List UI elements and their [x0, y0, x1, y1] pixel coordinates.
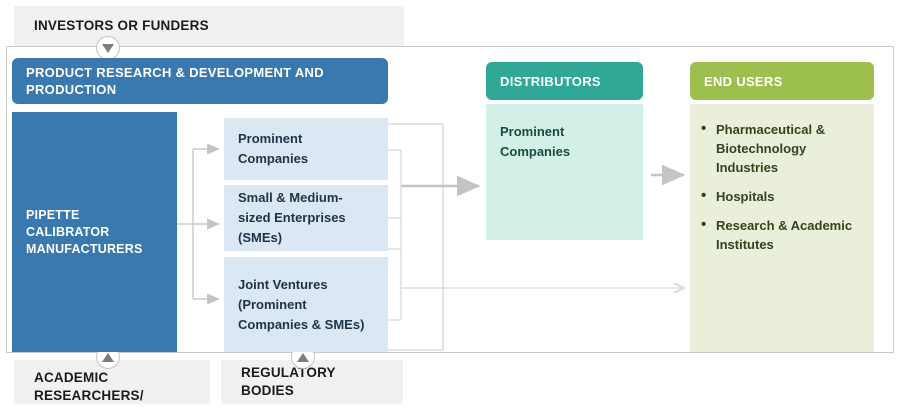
list-item: Hospitals [714, 187, 864, 206]
list-item: Pharmaceutical & Biotechnology Industrie… [714, 120, 864, 177]
list-item: Research & Academic Institutes [714, 216, 864, 254]
column-header-distributors: DISTRIBUTORS [486, 62, 643, 100]
end-users-list: Pharmaceutical & Biotechnology Industrie… [698, 120, 864, 254]
node-joint-ventures-label: Joint Ventures (Prominent Companies & SM… [238, 275, 374, 335]
stakeholder-academic-label-line1: ACADEMIC RESEARCHERS/ [34, 369, 196, 405]
node-end-users-body[interactable]: Pharmaceutical & Biotechnology Industrie… [690, 104, 874, 352]
node-distributors-entry: Prominent Companies [500, 124, 570, 159]
stakeholder-regulatory-label: REGULATORY BODIES [241, 364, 389, 400]
triangle-down-icon [96, 36, 120, 60]
node-pipette-calibrator-manufacturers[interactable]: PIPETTE CALIBRATOR MANUFACTURERS [12, 112, 177, 352]
stakeholder-regulatory-bodies[interactable]: REGULATORY BODIES [221, 360, 403, 404]
node-prominent-companies-label: Prominent Companies [238, 129, 374, 169]
node-joint-ventures[interactable]: Joint Ventures (Prominent Companies & SM… [224, 257, 388, 352]
stakeholder-investors[interactable]: INVESTORS OR FUNDERS [14, 6, 404, 46]
value-chain-diagram: INVESTORS OR FUNDERS ACADEMIC RESEARCHER… [0, 0, 900, 408]
column-header-end-users: END USERS [690, 62, 874, 100]
column-header-distributors-label: DISTRIBUTORS [500, 73, 601, 90]
column-header-end-users-label: END USERS [704, 73, 783, 90]
node-smes[interactable]: Small & Medium-sized Enterprises (SMEs) [224, 185, 388, 251]
column-header-production-label: PRODUCT RESEARCH & DEVELOPMENT AND PRODU… [26, 64, 376, 98]
node-distributors-body[interactable]: Prominent Companies [486, 104, 643, 240]
node-manufacturers-label: PIPETTE CALIBRATOR MANUFACTURERS [26, 207, 163, 258]
stakeholder-investors-label: INVESTORS OR FUNDERS [34, 17, 209, 35]
column-header-production: PRODUCT RESEARCH & DEVELOPMENT AND PRODU… [12, 58, 388, 104]
node-smes-label: Small & Medium-sized Enterprises (SMEs) [238, 188, 374, 248]
node-prominent-companies[interactable]: Prominent Companies [224, 118, 388, 180]
